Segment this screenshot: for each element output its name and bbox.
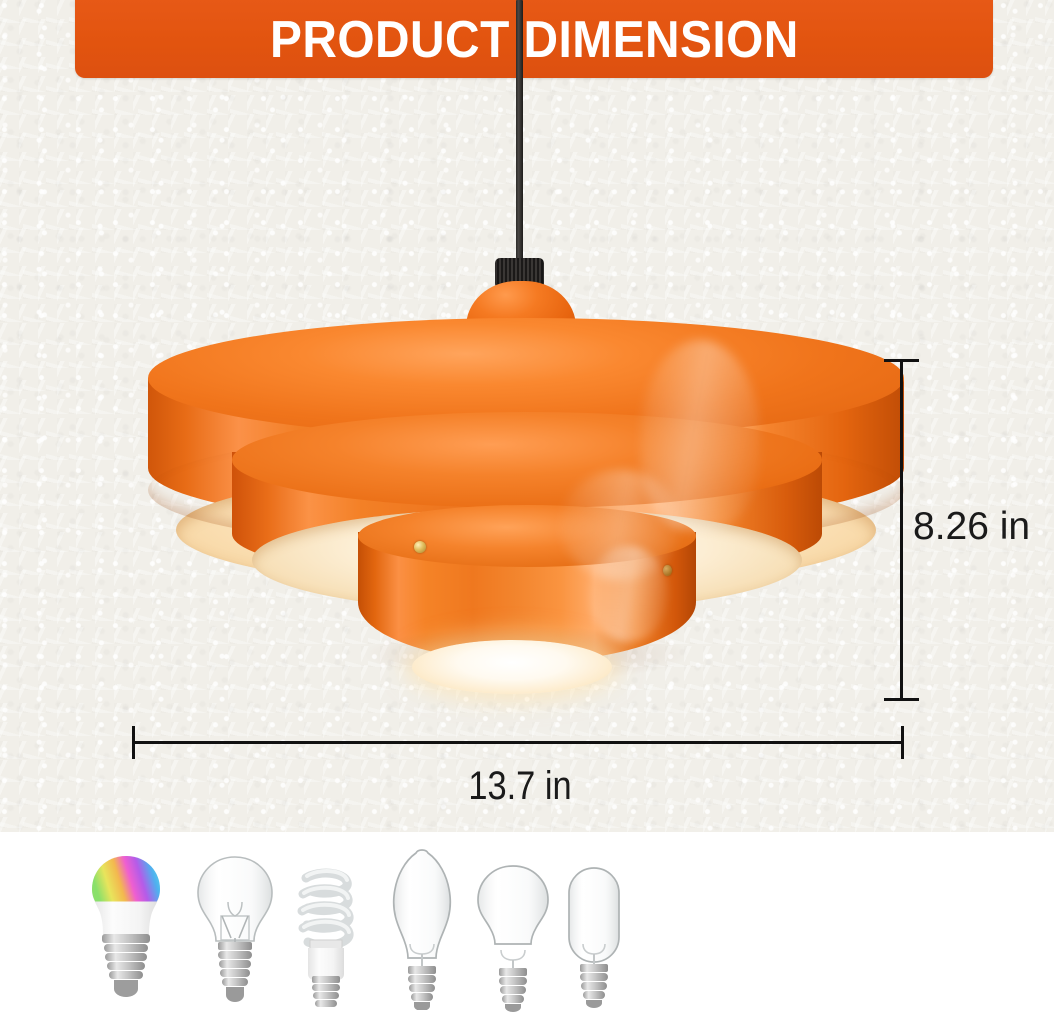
- rgb-smart-bulb-icon: [78, 852, 174, 1012]
- lamp-cord: [516, 0, 523, 268]
- gloss-highlight-tier3: [588, 546, 668, 642]
- incandescent-bulb-icon: [188, 854, 282, 1012]
- height-dimension-line: [900, 360, 903, 700]
- product-dimension-infographic: PRODUCT DIMENSION 8.26 in 13.7 in: [0, 0, 1054, 1014]
- pendant-lamp-image: [0, 0, 1054, 832]
- edison-t45-bulb-icon: [552, 862, 636, 1012]
- bottom-diffuser-glow: [412, 640, 612, 694]
- width-dimension-label: 13.7 in: [73, 764, 967, 809]
- cfl-spiral-bulb-icon: [280, 858, 372, 1012]
- edison-a19-bulb-icon: [466, 862, 560, 1012]
- shade-screw-left: [414, 541, 426, 553]
- edison-st64-bulb-icon: [372, 844, 472, 1010]
- height-dimension-cap-bottom: [884, 698, 919, 701]
- width-dimension-line: [133, 741, 903, 744]
- width-dimension-cap-right: [901, 726, 904, 759]
- height-dimension-label: 8.26 in: [913, 505, 1030, 549]
- bulb-info-panel: E26 BASE Bulb not included Recommended B…: [0, 832, 1054, 1014]
